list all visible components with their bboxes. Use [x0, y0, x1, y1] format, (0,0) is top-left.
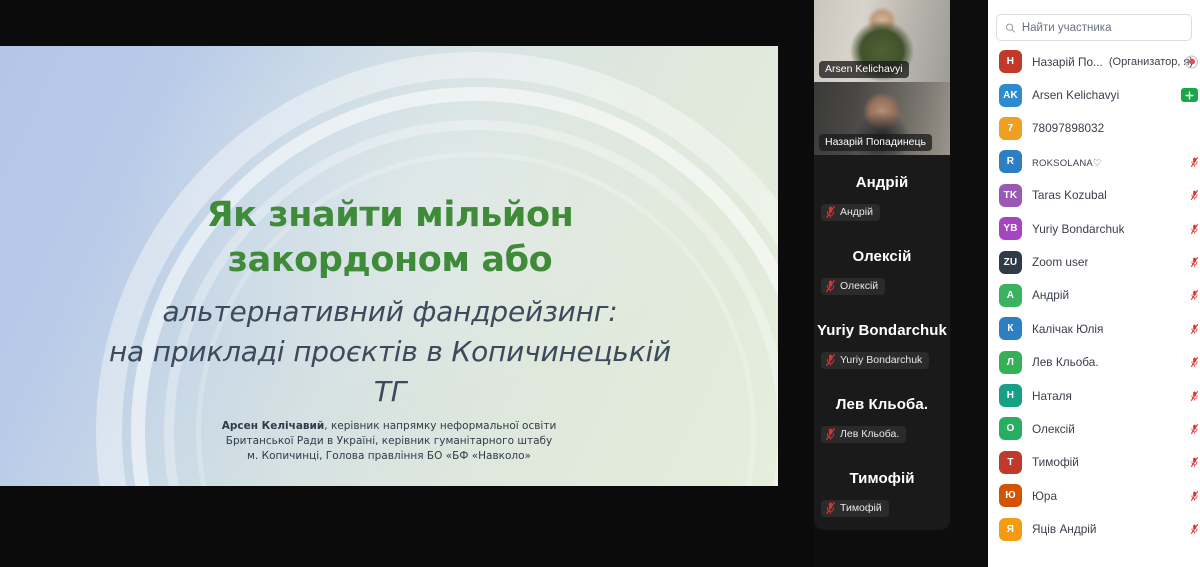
participant-row[interactable]: ННаталя — [988, 379, 1200, 412]
presenter-credit-line-1: Арсен Келічавий, керівник напрямку нефор… — [139, 419, 639, 434]
mic-off-icon — [1191, 491, 1198, 501]
search-input[interactable] — [1022, 22, 1183, 34]
participant-avatar: Л — [999, 351, 1022, 374]
participant-name: Олексій — [1032, 422, 1075, 436]
mic-off-icon — [1191, 424, 1198, 434]
video-tile[interactable]: ТимофійТимофій — [814, 451, 950, 525]
slide-subtitle: альтернативний фандрейзинг: на прикладі … — [40, 292, 740, 411]
participant-avatar: О — [999, 417, 1022, 440]
mic-off-icon — [1191, 290, 1198, 300]
video-tile-name-badge: Тимофій — [821, 500, 889, 517]
slide-title: Як знайти мільйон закордоном або — [60, 193, 720, 283]
participant-status-icons[interactable] — [1191, 190, 1198, 200]
participant-avatar: К — [999, 317, 1022, 340]
presenter-name: Арсен Келічавий — [222, 420, 325, 432]
participant-name: Taras Kozubal — [1032, 188, 1107, 202]
mic-off-icon — [826, 280, 835, 292]
video-tile-display-name: Олексій — [814, 248, 950, 265]
video-tile-display-name: Тимофій — [814, 470, 950, 487]
participant-name: ROKSOLANA♡ — [1032, 155, 1102, 169]
presenter-credit-line-2: Британської Ради в Україні, керівник гум… — [139, 434, 639, 449]
participant-avatar: 7 — [999, 117, 1022, 140]
video-tile-name: Назарій Попадинець — [819, 134, 932, 151]
participant-row[interactable]: ААндрій — [988, 279, 1200, 312]
participant-name: Yuriy Bondarchuk — [1032, 222, 1124, 236]
participant-avatar: Я — [999, 518, 1022, 541]
participant-avatar: R — [999, 150, 1022, 173]
participant-status-icons[interactable] — [1191, 324, 1198, 334]
participants-panel: ННазарій По...(Организатор, я)AKArsen Ke… — [988, 0, 1200, 567]
participant-row[interactable]: RROKSOLANA♡ — [988, 145, 1200, 178]
participant-name: Юра — [1032, 489, 1057, 503]
participant-avatar: AK — [999, 84, 1022, 107]
participant-name: Калічак Юлія — [1032, 322, 1103, 336]
participant-avatar: ZU — [999, 251, 1022, 274]
participant-role-tag: (Организатор, я) — [1109, 56, 1193, 68]
participant-row[interactable]: ZUZoom user — [988, 245, 1200, 278]
participant-row[interactable]: AKArsen Kelichavyi — [988, 78, 1200, 111]
search-box[interactable] — [996, 14, 1192, 41]
presenter-credit-line-3: м. Копичинці, Голова правління БО «БФ «Н… — [139, 449, 639, 464]
video-tile-name: Олексій — [840, 280, 878, 292]
presentation-slide: Як знайти мільйон закордоном або альтерн… — [0, 46, 778, 486]
video-tile-display-name: Yuriy Bondarchuk — [814, 322, 950, 339]
video-tile-name: Arsen Kelichavyi — [819, 61, 909, 78]
participant-name: Андрій — [1032, 288, 1069, 302]
participant-name: Zoom user — [1032, 255, 1088, 269]
participant-status-icons[interactable] — [1191, 157, 1198, 167]
participant-row[interactable]: 778097898032 — [988, 112, 1200, 145]
slide-presenter-credits: Арсен Келічавий, керівник напрямку нефор… — [139, 419, 639, 464]
plus-icon — [1185, 91, 1194, 100]
video-tile-name: Андрій — [840, 206, 873, 218]
participant-row[interactable]: ННазарій По...(Организатор, я) — [988, 45, 1200, 78]
mic-off-icon — [1191, 157, 1198, 167]
video-tile[interactable]: Назарій Попадинець — [814, 82, 950, 155]
shared-screen-area: Як знайти мільйон закордоном або альтерн… — [0, 0, 814, 567]
participant-status-icons[interactable] — [1191, 224, 1198, 234]
mic-off-icon — [1191, 357, 1198, 367]
participant-avatar: Н — [999, 50, 1022, 73]
mic-off-icon — [826, 502, 835, 514]
participant-status-icons[interactable] — [1191, 391, 1198, 401]
participant-status-icons[interactable] — [1191, 424, 1198, 434]
video-tile[interactable]: Arsen Kelichavyi — [814, 0, 950, 82]
participant-status-icons[interactable] — [1191, 491, 1198, 501]
participant-status-icons[interactable] — [1191, 457, 1198, 467]
slide-subtitle-line-1: альтернативний фандрейзинг: — [40, 292, 740, 332]
participants-list[interactable]: ННазарій По...(Организатор, я)AKArsen Ke… — [988, 45, 1200, 567]
slide-text-block: Як знайти мільйон закордоном або альтерн… — [0, 46, 778, 486]
participant-row[interactable]: ККалічак Юлія — [988, 312, 1200, 345]
video-tile[interactable]: АндрійАндрій — [814, 155, 950, 229]
participant-avatar: Н — [999, 384, 1022, 407]
presenter-role-1: , керівник напрямку неформальної освіти — [324, 420, 556, 432]
mic-off-icon — [826, 206, 835, 218]
video-tile-name: Лев Кльоба. — [840, 428, 899, 440]
mic-off-icon — [1191, 257, 1198, 267]
participant-status-icons[interactable] — [1191, 257, 1198, 267]
video-tile-name-badge: Олексій — [821, 278, 885, 295]
video-tile[interactable]: Yuriy BondarchukYuriy Bondarchuk — [814, 303, 950, 377]
participant-avatar: TK — [999, 184, 1022, 207]
video-tile[interactable]: Лев Кльоба.Лев Кльоба. — [814, 377, 950, 451]
participant-avatar: Т — [999, 451, 1022, 474]
slide-subtitle-line-3: ТГ — [40, 372, 740, 412]
video-tile[interactable]: ОлексійОлексій — [814, 229, 950, 303]
mic-off-icon — [1191, 524, 1198, 534]
video-tile-name-badge: Лев Кльоба. — [821, 426, 906, 443]
slide-subtitle-line-2: на прикладі проєктів в Копичинецькій — [40, 332, 740, 372]
video-tile-name: Тимофій — [840, 502, 882, 514]
video-tile-display-name: Андрій — [814, 174, 950, 191]
participant-status-icons[interactable] — [1191, 357, 1198, 367]
mic-off-icon — [826, 428, 835, 440]
participant-row[interactable]: ЯЯців Андрій — [988, 512, 1200, 545]
participant-name: Яців Андрій — [1032, 522, 1096, 536]
participant-name: Наталя — [1032, 389, 1072, 403]
participants-search[interactable] — [996, 14, 1192, 41]
video-tile-name: Yuriy Bondarchuk — [840, 354, 922, 366]
slide-title-line-1: Як знайти мільйон — [60, 193, 720, 238]
mic-off-icon — [1191, 224, 1198, 234]
video-tile-name-badge: Андрій — [821, 204, 880, 221]
participant-row[interactable]: TKTaras Kozubal — [988, 179, 1200, 212]
mic-off-icon — [1191, 457, 1198, 467]
zoom-meeting-window: Як знайти мільйон закордоном або альтерн… — [0, 0, 1200, 567]
participant-row[interactable]: YBYuriy Bondarchuk — [988, 212, 1200, 245]
participant-name: Лев Кльоба. — [1032, 355, 1099, 369]
screen-share-badge-icon — [1181, 88, 1198, 102]
video-filmstrip[interactable]: Arsen KelichavyiНазарій ПопадинецьАндрій… — [814, 0, 950, 530]
participant-status-icons[interactable] — [1191, 524, 1198, 534]
participant-name: Arsen Kelichavyi — [1032, 88, 1119, 102]
video-tile-display-name: Лев Кльоба. — [814, 396, 950, 413]
participant-name: 78097898032 — [1032, 121, 1104, 135]
participant-avatar: YB — [999, 217, 1022, 240]
participant-row[interactable]: ООлексій — [988, 412, 1200, 445]
participant-row[interactable]: ЛЛев Кльоба. — [988, 346, 1200, 379]
mic-off-icon — [1191, 190, 1198, 200]
participant-status-icons[interactable] — [1191, 290, 1198, 300]
recording-indicator-icon[interactable] — [1185, 55, 1198, 68]
participant-row[interactable]: ТТимофій — [988, 446, 1200, 479]
participant-status-icons[interactable] — [1185, 55, 1198, 68]
participant-avatar: А — [999, 284, 1022, 307]
participant-name: Тимофій — [1032, 455, 1079, 469]
slide-title-line-2: закордоном або — [60, 238, 720, 283]
participant-status-icons[interactable] — [1181, 88, 1198, 102]
mic-off-icon — [1191, 324, 1198, 334]
participant-row[interactable]: ЮЮра — [988, 479, 1200, 512]
search-icon — [1005, 22, 1016, 34]
participant-avatar: Ю — [999, 484, 1022, 507]
video-tile-name-badge: Yuriy Bondarchuk — [821, 352, 929, 369]
participant-name: Назарій По... — [1032, 55, 1103, 69]
mic-off-icon — [1191, 391, 1198, 401]
mic-off-icon — [826, 354, 835, 366]
